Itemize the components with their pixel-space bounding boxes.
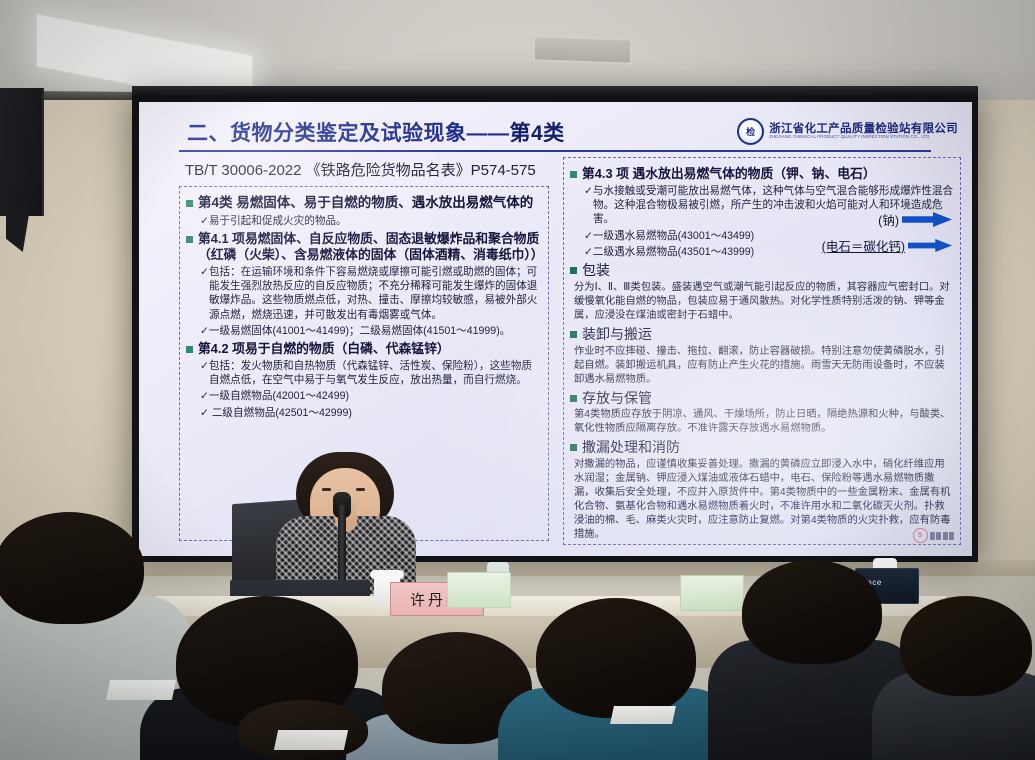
audience-torso — [0, 596, 192, 760]
left-item-3-check-3: ✓ 二级自燃物品(42501～42999) — [200, 406, 542, 420]
slide-title-suffix: 第4类 — [510, 122, 565, 145]
presenter-desk-top — [156, 596, 946, 618]
arrow-label-carbide: (电石＝碳化钙) — [822, 236, 905, 255]
left-content-column: 第4类 易燃固体、易于自燃的物质、遇水放出易燃气体的 ✓易于引起和促成火灾的物品… — [179, 186, 549, 541]
left-item-3: 第4.2 项易于自燃的物质（白磷、代森锰锌） — [186, 341, 542, 357]
left-item-1: 第4类 易燃固体、易于自燃的物质、遇水放出易燃气体的 — [186, 195, 542, 212]
desk-paper — [610, 706, 676, 724]
teacup — [374, 576, 400, 606]
left-item-3-heading: 第4.2 项易于自燃的物质（白磷、代森锰锌） — [198, 341, 450, 357]
right-arrow-icon — [902, 212, 952, 227]
arrow-annotations: (钠) (电石＝碳化钙) — [774, 210, 952, 262]
packaging-section: 包装 — [570, 262, 954, 279]
watermark-stamp-icon: 5 — [913, 528, 928, 543]
company-logo: 检 浙江省化工产品质量检验站有限公司 ZHEJIANG CHEMICAL PRO… — [737, 118, 958, 145]
tissue-box-label: Face — [862, 578, 882, 587]
left-item-3-check-1: ✓包括：发火物质和自热物质（代森锰锌、活性炭、保险粉），这些物质自燃点低，在空气… — [200, 359, 542, 387]
right-item-43: 第4.3 项 遇水放出易燃气体的物质（钾、钠、电石） — [570, 166, 954, 182]
audience-head — [900, 596, 1032, 696]
left-item-3-check-2: ✓一级自燃物品(42001～42499) — [200, 389, 542, 403]
handling-section: 装卸与搬运 — [570, 326, 954, 343]
bullet-square-icon — [570, 395, 577, 402]
left-item-2-check-1: ✓包括：在运输环境和条件下容易燃烧或摩擦可能引燃或助燃的固体；可能发生强烈放热反… — [200, 265, 542, 322]
left-item-2-check-2: ✓一级易燃固体(41001～41499)；二级易燃固体(41501～41999)… — [200, 324, 542, 338]
audience-torso — [708, 640, 920, 760]
tissue-box — [447, 572, 511, 608]
audience-head — [238, 700, 368, 760]
left-item-1-check: ✓易于引起和促成火灾的物品。 — [200, 214, 542, 228]
company-logo-mark-icon: 检 — [737, 118, 764, 145]
right-item-43-heading: 第4.3 项 遇水放出易燃气体的物质（钾、钠、电石） — [582, 166, 876, 182]
tissue-box — [680, 575, 744, 611]
spill-section: 撒漏处理和消防 — [570, 439, 954, 456]
arrow-annotation-1: (钠) — [774, 210, 952, 229]
desk-paper — [106, 680, 176, 700]
left-item-2: 第4.1 项易燃固体、自反应物质、固态退敏爆炸品和聚合物质（红磷（火柴）、含易燃… — [186, 231, 542, 263]
podium — [230, 580, 370, 632]
presenter-desk-front — [156, 616, 946, 668]
audience-head — [536, 598, 696, 718]
wall-speaker — [0, 88, 44, 216]
bullet-square-icon — [186, 346, 193, 353]
audience-torso — [346, 714, 574, 760]
audience-head — [176, 596, 358, 728]
arrow-label-sodium: (钠) — [878, 210, 899, 229]
packaging-heading: 包装 — [582, 262, 610, 279]
handling-body: 作业时不应摔碰、撞击、拖拉、翻滚，防止容器破损。特别注意勿使黄磷脱水，引起自燃。… — [574, 345, 954, 387]
bullet-square-icon — [186, 200, 193, 207]
bullet-square-icon — [570, 444, 577, 451]
storage-heading: 存放与保管 — [582, 390, 652, 407]
bullet-square-icon — [570, 331, 577, 338]
left-item-1-heading: 第4类 易燃固体、易于自燃的物质、遇水放出易燃气体的 — [198, 195, 533, 212]
left-item-2-heading: 第4.1 项易燃固体、自反应物质、固态退敏爆炸品和聚合物质（红磷（火柴）、含易燃… — [198, 231, 542, 263]
desk-paper — [274, 730, 348, 750]
bullet-square-icon — [570, 267, 577, 274]
slide-title-main: 二、货物分类鉴定及试验现象—— — [187, 122, 510, 145]
standard-reference-line: TB/T 30006-2022 《铁路危险货物品名表》P574-575 — [185, 159, 536, 180]
spill-body: 对撒漏的物品，应谨慎收集妥善处理。撒漏的黄磷应立即浸入水中，硝化纤维应用水润湿；… — [574, 458, 954, 542]
handling-heading: 装卸与搬运 — [582, 326, 652, 343]
packaging-body: 分为Ⅰ、Ⅱ、Ⅲ类包装。盛装遇空气或潮气能引起反应的物质，其容器应气密封口。对缓慢… — [574, 281, 954, 323]
microphone-base — [324, 588, 360, 600]
nameplate-text: 许丹红 — [410, 589, 464, 610]
watermark-pills-icon — [930, 532, 955, 540]
presentation-slide: 二、货物分类鉴定及试验现象——第4类 检 浙江省化工产品质量检验站有限公司 ZH… — [139, 102, 972, 556]
bullet-square-icon — [570, 171, 577, 178]
slide-watermark: 5 — [913, 528, 955, 543]
company-name-en: ZHEJIANG CHEMICAL PRODUCT QUALITY INSPEC… — [769, 135, 958, 139]
ceiling-air-vent — [533, 35, 632, 64]
right-arrow-icon — [908, 239, 952, 252]
audience-head — [382, 632, 532, 744]
slide-title: 二、货物分类鉴定及试验现象——第4类 — [187, 117, 565, 147]
audience-torso — [498, 688, 736, 760]
spill-heading: 撒漏处理和消防 — [582, 439, 680, 456]
right-content-column: 第4.3 项 遇水放出易燃气体的物质（钾、钠、电石） ✓与水接触或受潮可能放出易… — [563, 157, 961, 545]
title-underline-rule — [179, 150, 931, 152]
lecture-room-photo: 二、货物分类鉴定及试验现象——第4类 检 浙江省化工产品质量检验站有限公司 ZH… — [0, 0, 1035, 760]
arrow-annotation-2: (电石＝碳化钙) — [774, 236, 952, 255]
wall-baseline — [0, 560, 1035, 576]
bullet-square-icon — [186, 236, 193, 243]
storage-section: 存放与保管 — [570, 390, 954, 407]
storage-body: 第4类物质应存放于阴凉、通风、干燥场所，防止日晒，隔绝热源和火种，与酸类、氧化性… — [574, 408, 954, 436]
audience-torso — [140, 688, 402, 760]
audience-torso — [872, 672, 1035, 760]
nameplate: 许丹红 — [390, 582, 484, 616]
